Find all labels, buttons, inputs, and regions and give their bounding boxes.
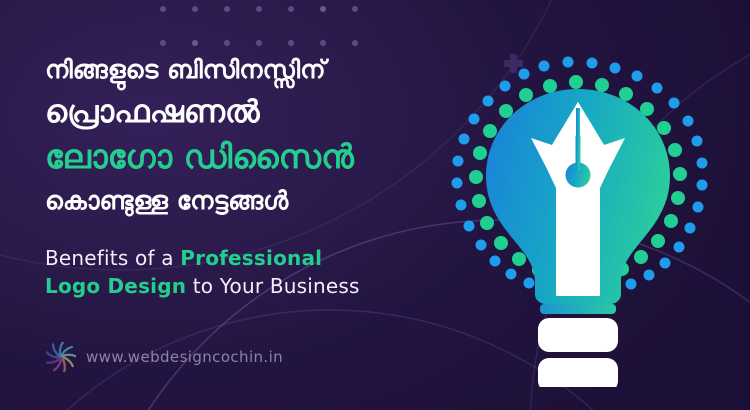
subheadline-part-3: to Your Business bbox=[186, 274, 359, 298]
headline-line-3-accent: ലോഗോ ഡിസൈൻ bbox=[45, 134, 465, 180]
headline-line-2: പ്രൊഫഷണൽ bbox=[45, 90, 465, 134]
grid-dot bbox=[192, 6, 198, 12]
grid-dot bbox=[160, 6, 166, 12]
grid-dot bbox=[192, 40, 198, 46]
subheadline-highlight-1: Professional bbox=[180, 246, 322, 270]
lightbulb-pen-nib-artwork bbox=[428, 42, 750, 387]
grid-dot bbox=[352, 40, 358, 46]
subheadline-highlight-2: Logo Design bbox=[45, 274, 186, 298]
headline-line-1: നിങ്ങളുടെ ബിസിനസ്സിന് bbox=[45, 50, 465, 90]
headline-line-4: കൊണ്ടുള്ള നേട്ടങ്ങൾ bbox=[45, 180, 465, 222]
grid-dot bbox=[320, 40, 326, 46]
pinwheel-logo-icon bbox=[46, 342, 76, 372]
grid-dot bbox=[224, 6, 230, 12]
grid-dot bbox=[256, 6, 262, 12]
bulb-base-bars bbox=[538, 304, 618, 387]
grid-dot bbox=[320, 6, 326, 12]
headline-block: നിങ്ങളുടെ ബിസിനസ്സിന് പ്രൊഫഷണൽ ലോഗോ ഡിസൈ… bbox=[45, 50, 465, 300]
grid-dot bbox=[256, 40, 262, 46]
grid-dot bbox=[352, 6, 358, 12]
grid-dot bbox=[160, 40, 166, 46]
website-url[interactable]: www.webdesigncochin.in bbox=[86, 348, 283, 366]
grid-dot bbox=[288, 6, 294, 12]
subheadline: Benefits of a Professional Logo Design t… bbox=[45, 244, 465, 300]
grid-dot bbox=[224, 40, 230, 46]
subheadline-part-1: Benefits of a bbox=[45, 246, 180, 270]
promo-banner: നിങ്ങളുടെ ബിസിനസ്സിന് പ്രൊഫഷണൽ ലോഗോ ഡിസൈ… bbox=[0, 0, 750, 410]
footer-brand: www.webdesigncochin.in bbox=[46, 342, 283, 372]
grid-dot bbox=[288, 40, 294, 46]
